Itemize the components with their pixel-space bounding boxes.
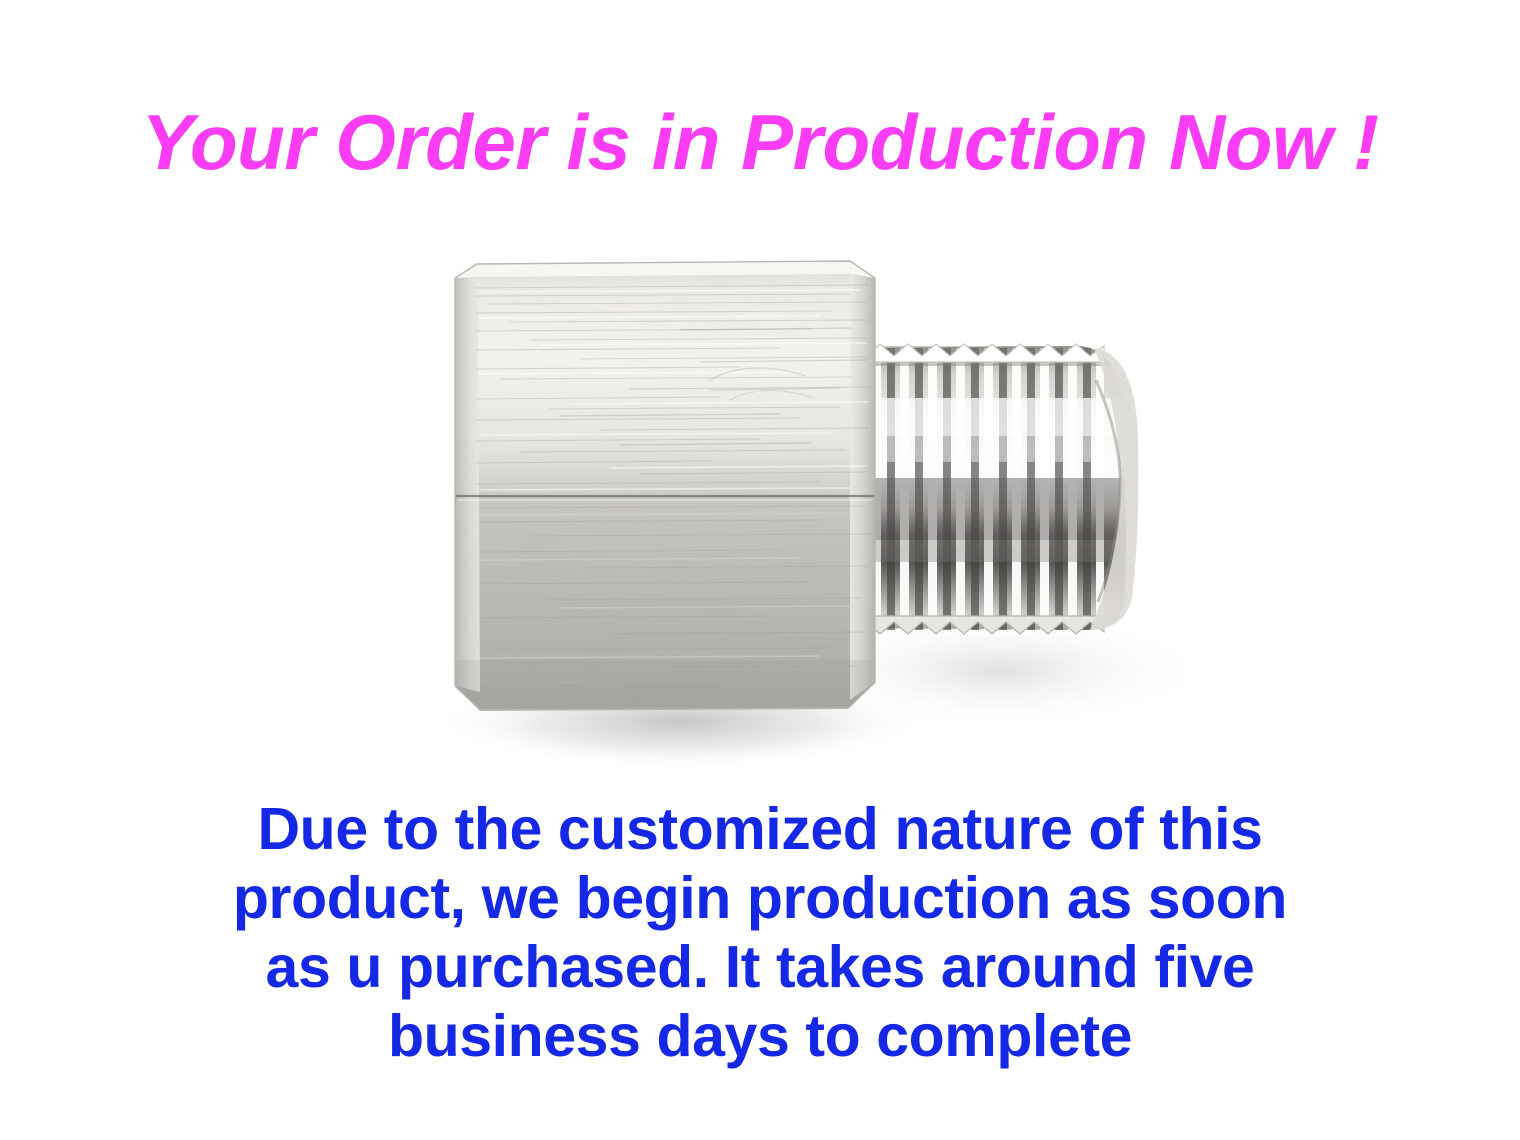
hex-pipe-adapter-photo (380, 230, 1220, 790)
promo-banner: Your Order is in Production Now ! (0, 0, 1520, 1140)
notice-line-2: product, we begin production as soon (0, 864, 1520, 933)
hex-body (455, 261, 880, 712)
notice-line-3: as u purchased. It takes around five (0, 933, 1520, 1002)
page-title: Your Order is in Production Now ! (0, 96, 1520, 188)
product-photo (380, 230, 1220, 790)
threaded-shank (850, 344, 1140, 634)
production-notice: Due to the customized nature of this pro… (0, 795, 1520, 1071)
notice-line-4: business days to complete (0, 1002, 1520, 1071)
notice-line-1: Due to the customized nature of this (0, 795, 1520, 864)
